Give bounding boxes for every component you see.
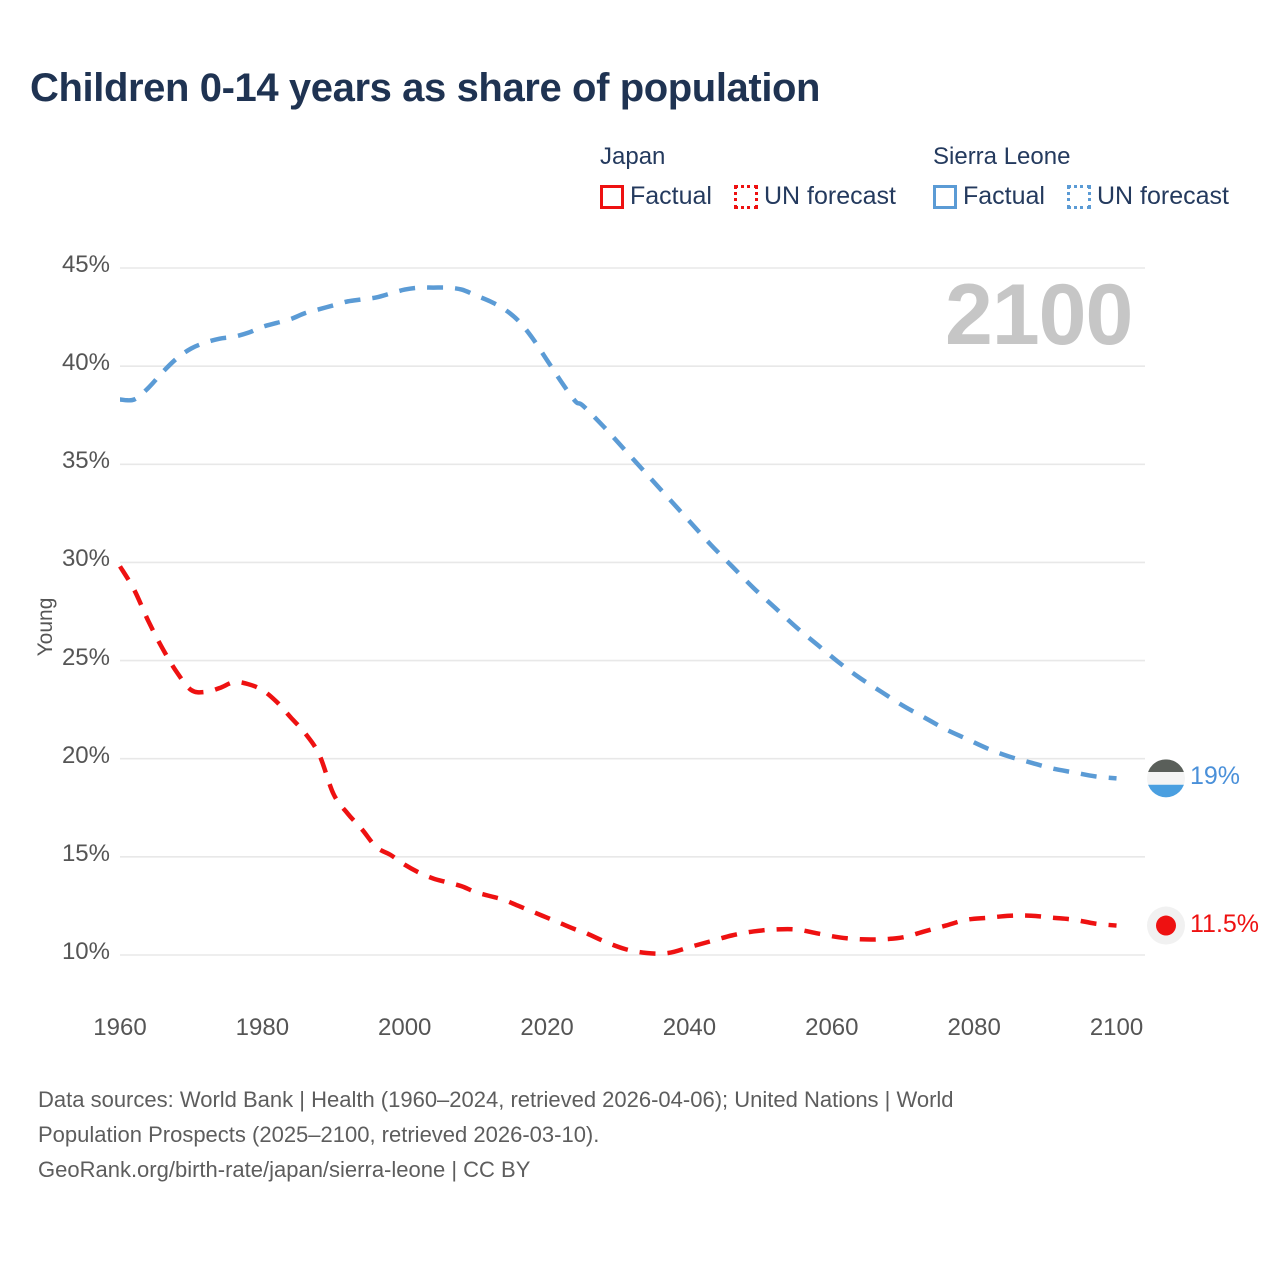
y-tick-label: 25% <box>20 646 110 670</box>
x-tick-label: 2100 <box>1072 1014 1162 1042</box>
x-tick-label: 2020 <box>502 1014 592 1042</box>
y-tick-label: 40% <box>20 351 110 375</box>
x-tick-label: 2060 <box>787 1014 877 1042</box>
y-tick-label: 35% <box>20 449 110 473</box>
gridlines <box>120 268 1145 955</box>
endpoint-label-japan: 11.5% <box>1190 910 1259 939</box>
x-tick-label: 2080 <box>929 1014 1019 1042</box>
x-tick-label: 2040 <box>644 1014 734 1042</box>
x-tick-label: 1960 <box>75 1014 165 1042</box>
japan-flag-icon <box>1147 907 1185 945</box>
x-tick-label: 2000 <box>360 1014 450 1042</box>
y-tick-label: 15% <box>20 842 110 866</box>
footer-line-1: Data sources: World Bank | Health (1960–… <box>38 1082 1198 1117</box>
footer-sources: Data sources: World Bank | Health (1960–… <box>38 1082 1198 1187</box>
y-tick-label: 45% <box>20 253 110 277</box>
y-tick-label: 20% <box>20 744 110 768</box>
series-line-forecast-japan <box>120 566 1117 953</box>
y-tick-label: 10% <box>20 940 110 964</box>
endpoint-markers <box>1147 759 1185 944</box>
sierra-leone-flag-icon <box>1147 759 1185 797</box>
year-watermark: 2100 <box>945 272 1132 358</box>
footer-line-2: Population Prospects (2025–2100, retriev… <box>38 1117 1198 1152</box>
y-tick-label: 30% <box>20 547 110 571</box>
chart-root: Children 0-14 years as share of populati… <box>0 0 1280 1280</box>
endpoint-label-sierra-leone: 19% <box>1190 762 1240 791</box>
series-lines <box>120 287 1117 953</box>
x-tick-label: 1980 <box>217 1014 307 1042</box>
footer-line-3[interactable]: GeoRank.org/birth-rate/japan/sierra-leon… <box>38 1152 1198 1187</box>
